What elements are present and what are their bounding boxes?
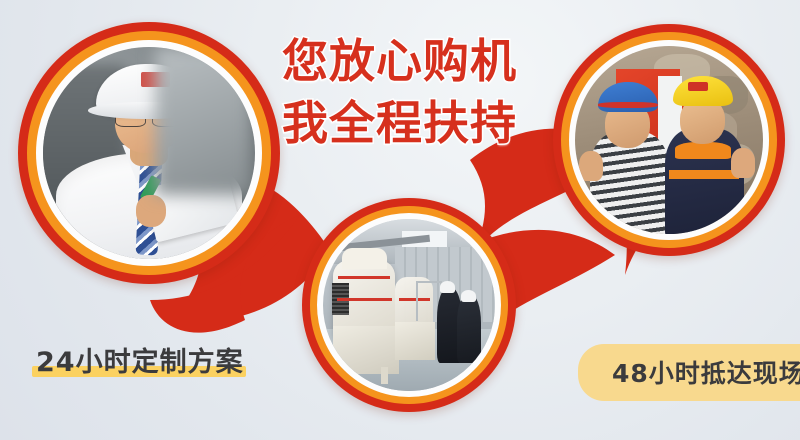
medallion-engineer[interactable]: [18, 22, 280, 284]
hand: [136, 195, 166, 227]
photo-engineer: [43, 47, 255, 259]
hard-hat-band: [598, 102, 658, 108]
thumbs-up-icon: [731, 148, 755, 178]
headline-line-2: 我全程扶持: [282, 92, 550, 154]
crusher-base-secondary: [395, 322, 435, 360]
photo-workers: [575, 46, 763, 234]
photo-factory: [323, 219, 495, 391]
hard-hat-logo: [688, 82, 709, 91]
uniform-collar: [675, 142, 731, 159]
hard-hat-brim: [88, 102, 209, 119]
worker-striped-shirt: [590, 132, 669, 234]
label-custom-plan-text: 24小时定制方案: [36, 340, 244, 379]
white-hard-hat: [440, 281, 455, 293]
crusher-leg: [381, 367, 388, 384]
crusher-leg: [340, 367, 347, 384]
promo-banner: 您放心购机 我全程扶持 24小时定制方案 48小时抵达现场: [0, 0, 800, 440]
label-onsite-arrival: 48小时抵达现场: [578, 344, 800, 401]
medallion-factory[interactable]: [302, 198, 516, 412]
label-onsite-arrival-text: 48小时抵达现场: [612, 354, 800, 390]
uniform-stripe: [669, 170, 739, 179]
machine-red-stripe: [338, 276, 390, 279]
headline: 您放心购机 我全程扶持: [282, 30, 550, 154]
white-hard-hat: [461, 290, 476, 302]
medallion-workers[interactable]: [553, 24, 785, 256]
hard-hat-logo: [141, 72, 171, 87]
thumbs-up-icon: [579, 151, 603, 181]
factory-worker: [457, 295, 481, 364]
headline-line-1: 您放心购机: [282, 30, 550, 92]
crusher-top: [342, 248, 387, 269]
machine-red-stripe: [337, 298, 392, 301]
label-custom-plan: 24小时定制方案: [36, 340, 244, 379]
